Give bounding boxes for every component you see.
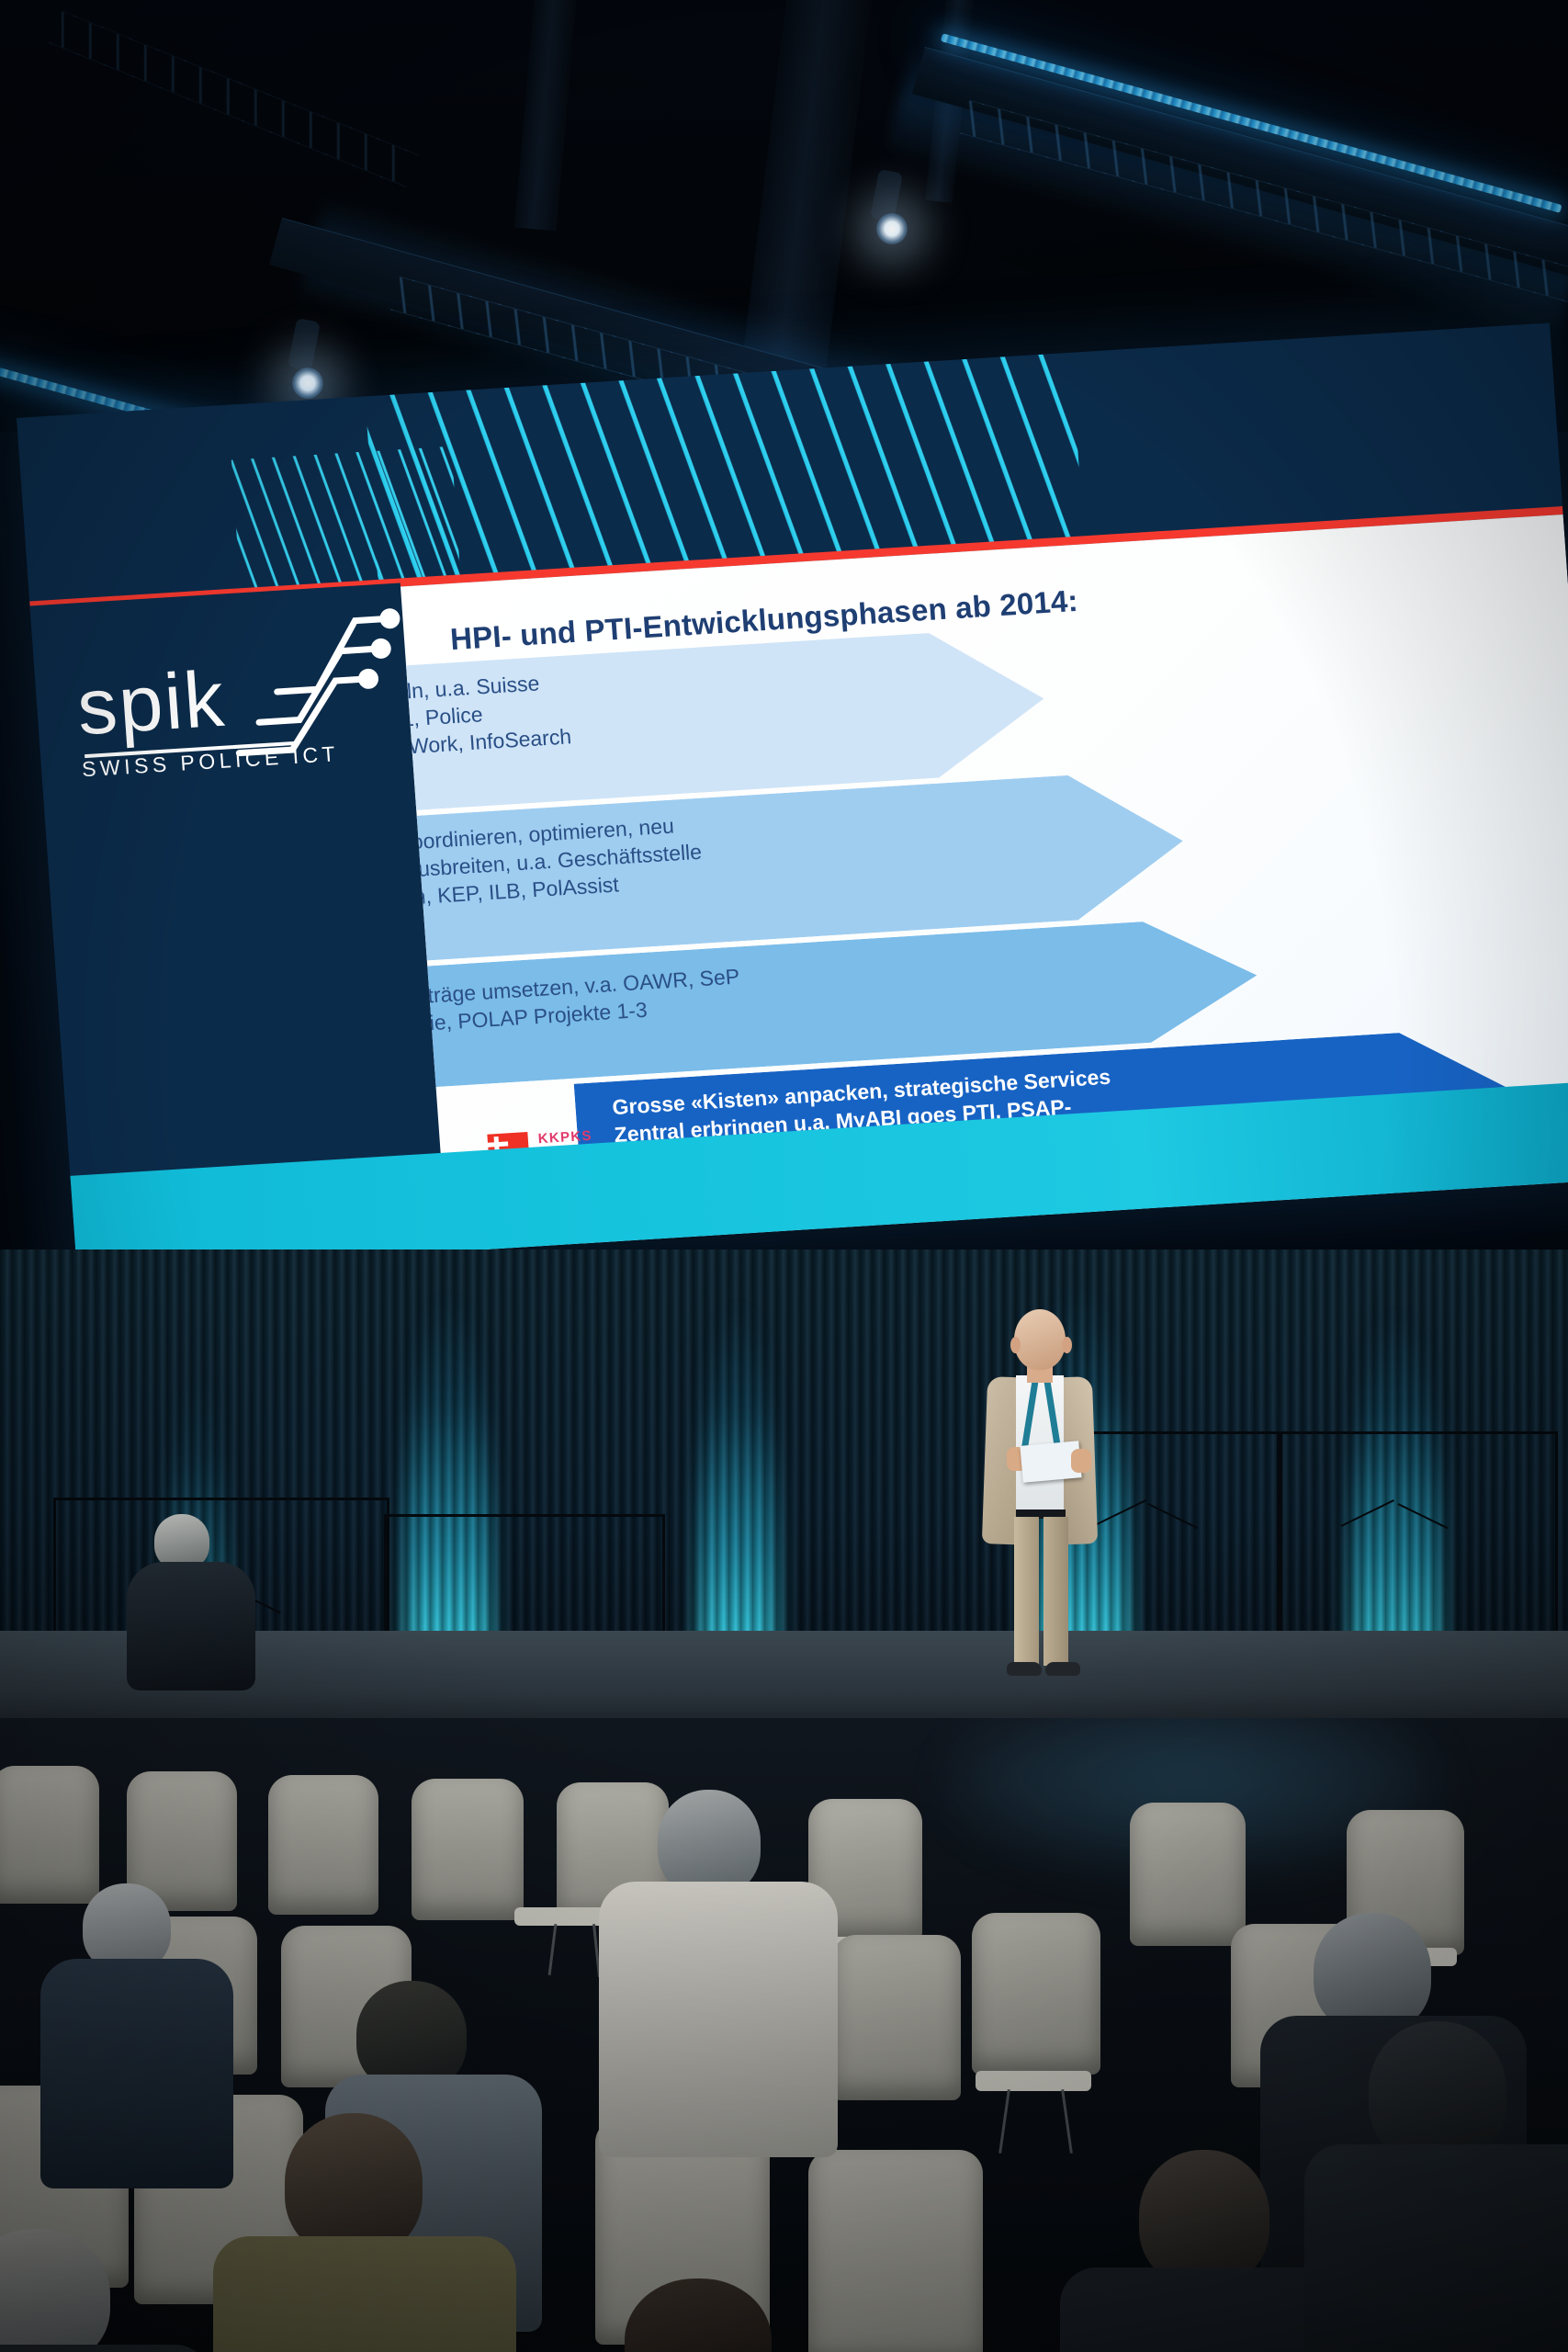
spotlight-lens-left	[292, 367, 323, 399]
speaker-presenter	[964, 1309, 1111, 1695]
speaker-ear-left	[1010, 1337, 1021, 1353]
chair	[972, 1913, 1100, 2075]
audience-torso	[599, 1882, 838, 2157]
chair	[832, 1935, 961, 2100]
audience-head	[1314, 1913, 1431, 2032]
stage-rail-right-b	[1277, 1431, 1558, 1655]
audience-head	[1369, 2021, 1506, 2165]
chair-leg	[1061, 2089, 1073, 2154]
chair-seat	[976, 2071, 1091, 2091]
speaker-shoe-left	[1007, 1662, 1042, 1676]
audience-torso	[0, 2345, 211, 2352]
speaker-leg-right	[1043, 1517, 1068, 1666]
audience-area	[0, 1718, 1568, 2352]
projection-screen: spik SWISS POLICE ICT HPI- un	[17, 322, 1568, 1274]
audience-head	[1139, 2150, 1269, 2286]
speaker-hand-right	[1071, 1449, 1091, 1473]
circuit-trace-icon	[221, 562, 418, 766]
spotlight-lens-center	[876, 213, 908, 244]
spotlight-body-left	[288, 318, 321, 371]
audience-torso	[213, 2236, 516, 2352]
ceiling-lattice-far	[49, 10, 420, 187]
stage-rail-mid	[384, 1514, 665, 1647]
chair-leg	[548, 1924, 558, 1975]
chair-leg	[998, 2089, 1010, 2154]
conference-photo-scene: spik SWISS POLICE ICT HPI- un	[0, 0, 1568, 2352]
audience-torso	[40, 1959, 233, 2188]
speaker-ear-right	[1062, 1337, 1072, 1353]
speaker-leg-left	[1014, 1517, 1039, 1666]
chair	[412, 1779, 524, 1920]
audience-head	[154, 1514, 209, 1569]
audience-torso	[127, 1562, 255, 1690]
audience-torso	[1304, 2144, 1568, 2352]
chair	[1130, 1803, 1246, 1946]
speaker-shoe-right	[1045, 1662, 1080, 1676]
audience-head	[285, 2113, 423, 2256]
chair	[808, 2150, 983, 2352]
chair	[0, 1766, 99, 1904]
ceiling-pillar-2	[514, 0, 579, 231]
speaker-head	[1014, 1309, 1066, 1370]
audience-head	[658, 1790, 761, 1896]
chair	[268, 1775, 378, 1915]
